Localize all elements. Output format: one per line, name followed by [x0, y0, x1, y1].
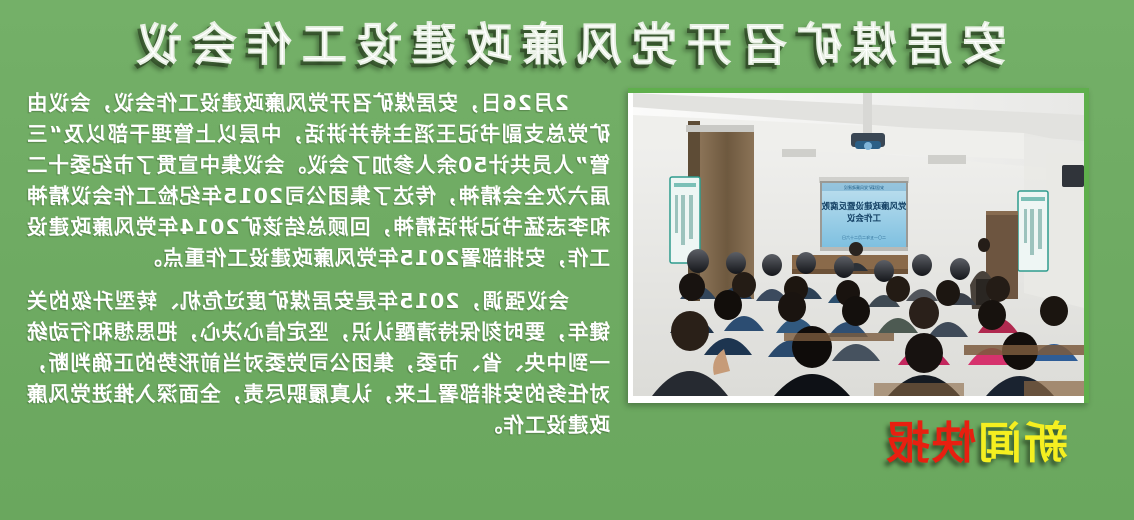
svg-text:党风廉政建设暨反腐败: 党风廉政建设暨反腐败: [821, 201, 907, 212]
meeting-photo: 安居煤矿党风廉政建设 党风廉政建设暨反腐败 工作会议 二〇一五年二月二十六日: [633, 93, 1084, 396]
title-bar: 安居煤矿召开党风廉政建设工作会议: [0, 4, 1134, 76]
article-body: 2月26日，安居煤矿召开党风廉政建设工作会议，会议由矿党总支副书记王滔主持并讲话…: [26, 88, 610, 441]
svg-text:安居煤矿党风廉政建设: 安居煤矿党风廉政建设: [844, 184, 884, 190]
meeting-photo-illustration: 安居煤矿党风廉政建设 党风廉政建设暨反腐败 工作会议 二〇一五年二月二十六日: [633, 93, 1084, 396]
news-logo-part2: 快报: [884, 418, 976, 469]
svg-text:工作会议: 工作会议: [847, 213, 882, 224]
news-bulletin-poster: 安居煤矿召开党风廉政建设工作会议: [0, 0, 1134, 520]
photo-frame: 安居煤矿党风廉政建设 党风廉政建设暨反腐败 工作会议 二〇一五年二月二十六日: [628, 88, 1089, 403]
photo-accent-left: [1084, 88, 1089, 403]
article-paragraph-2: 会议强调，2015年是安居煤矿度过危机、转型升级的关键年，要时刻保持清醒认识，坚…: [26, 286, 610, 441]
news-logo-part1: 新闻: [976, 418, 1068, 469]
article-paragraph-1: 2月26日，安居煤矿召开党风廉政建设工作会议，会议由矿党总支副书记王滔主持并讲话…: [26, 88, 610, 274]
svg-text:二〇一五年二月二十六日: 二〇一五年二月二十六日: [842, 234, 886, 240]
news-flash-logo: 新闻快报: [884, 407, 1068, 471]
page-title: 安居煤矿召开党风廉政建设工作会议: [127, 8, 1007, 73]
